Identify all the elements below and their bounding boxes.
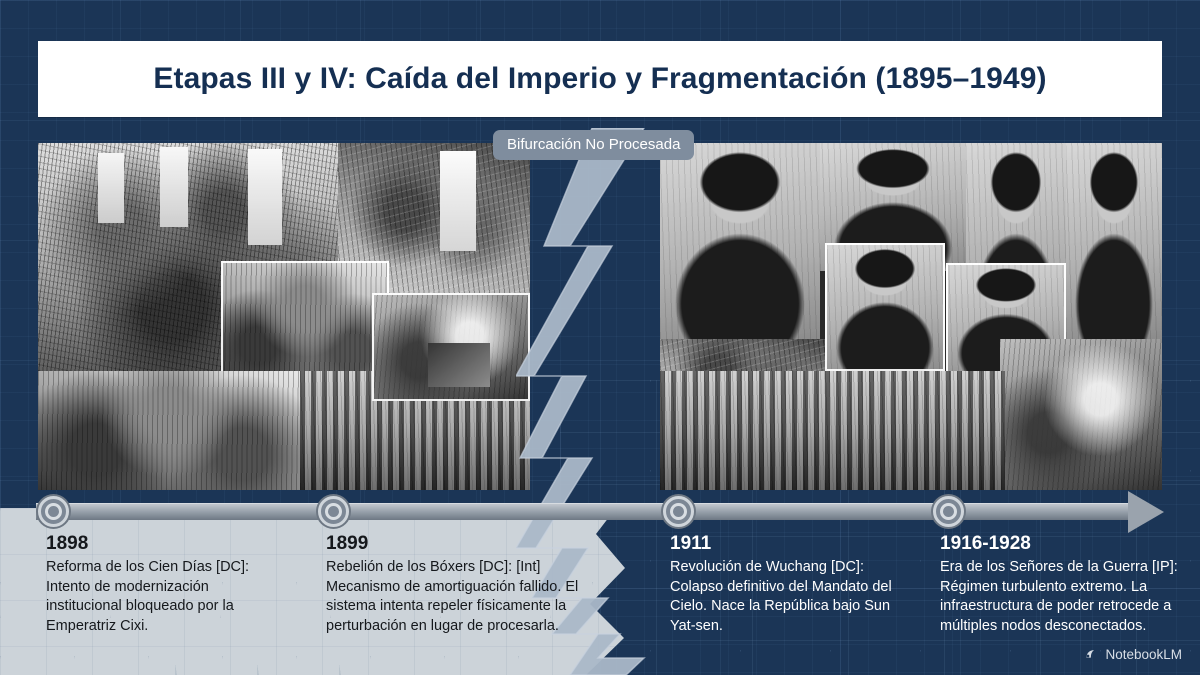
timeline-node-1911[interactable] — [663, 496, 694, 527]
watermark-label: NotebookLM — [1105, 647, 1182, 662]
timeline-entry-year: 1911 — [670, 533, 918, 555]
panel-boxer-rebellion-collage — [38, 143, 530, 490]
page-title: Etapas III y IV: Caída del Imperio y Fra… — [153, 62, 1046, 96]
timeline-entry-description: Rebelión de los Bóxers [DC]: [Int] Mecan… — [326, 558, 580, 636]
notebooklm-icon — [1084, 647, 1099, 662]
bifurcation-label: Bifurcación No Procesada — [493, 130, 694, 160]
timeline-entry-description: Era de los Señores de la Guerra [IP]: Ré… — [940, 558, 1182, 636]
timeline-entry-1911[interactable]: 1911 Revolución de Wuchang [DC]: Colapso… — [670, 533, 918, 636]
timeline-axis — [36, 503, 1140, 520]
timeline-entry-year: 1899 — [326, 533, 580, 555]
timeline-node-1916-1928[interactable] — [933, 496, 964, 527]
timeline-arrow-icon — [1128, 491, 1164, 533]
timeline-node-1898[interactable] — [38, 496, 69, 527]
timeline-entry-description: Revolución de Wuchang [DC]: Colapso defi… — [670, 558, 918, 636]
timeline-node-1899[interactable] — [318, 496, 349, 527]
timeline-entry-1898[interactable]: 1898 Reforma de los Cien Días [DC]: Inte… — [46, 533, 284, 636]
timeline-entry-1916-1928[interactable]: 1916-1928 Era de los Señores de la Guerr… — [940, 533, 1182, 636]
timeline-entry-year: 1916-1928 — [940, 533, 1182, 555]
slide-canvas: Bifurcación No Procesada Etapas III y IV… — [0, 0, 1200, 675]
notebooklm-watermark: NotebookLM — [1084, 647, 1182, 662]
timeline-entry-year: 1898 — [46, 533, 284, 555]
panel-warlords-collage — [660, 143, 1162, 490]
timeline-entry-description: Reforma de los Cien Días [DC]: Intento d… — [46, 558, 284, 636]
timeline-entry-1899[interactable]: 1899 Rebelión de los Bóxers [DC]: [Int] … — [326, 533, 580, 636]
title-bar: Etapas III y IV: Caída del Imperio y Fra… — [38, 41, 1162, 117]
